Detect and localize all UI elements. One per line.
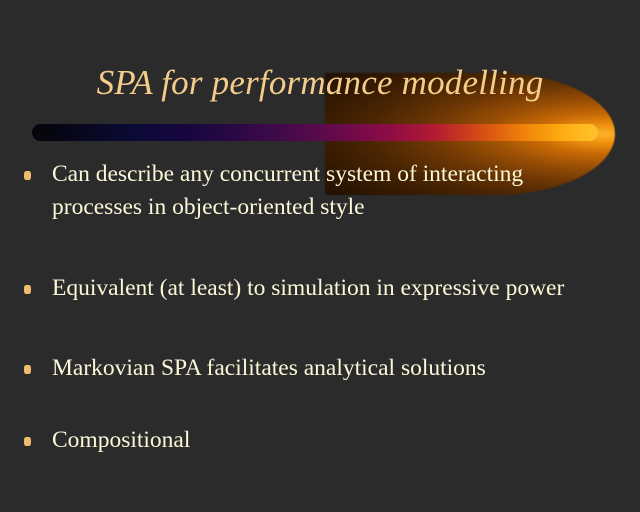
bullet-item: Compositional bbox=[0, 424, 640, 457]
bullet-item-text: Equivalent (at least) to simulation in e… bbox=[52, 272, 600, 305]
bullet-item: Markovian SPA facilitates analytical sol… bbox=[0, 352, 640, 385]
bullet-list: Can describe any concurrent system of in… bbox=[0, 158, 640, 457]
presentation-slide: SPA for performance modelling Can descri… bbox=[0, 0, 640, 512]
accent-gradient-bar bbox=[32, 124, 598, 141]
bullet-item-text: Can describe any concurrent system of in… bbox=[52, 158, 600, 224]
bullet-item: Equivalent (at least) to simulation in e… bbox=[0, 272, 640, 305]
bullet-item-text: Markovian SPA facilitates analytical sol… bbox=[52, 352, 600, 385]
bullet-diamond-icon bbox=[24, 437, 31, 446]
slide-title: SPA for performance modelling bbox=[0, 62, 640, 104]
bullet-diamond-icon bbox=[24, 171, 31, 180]
bullet-diamond-icon bbox=[24, 365, 31, 374]
bullet-item-text: Compositional bbox=[52, 424, 600, 457]
bullet-diamond-icon bbox=[24, 285, 31, 294]
bullet-item: Can describe any concurrent system of in… bbox=[0, 158, 640, 224]
